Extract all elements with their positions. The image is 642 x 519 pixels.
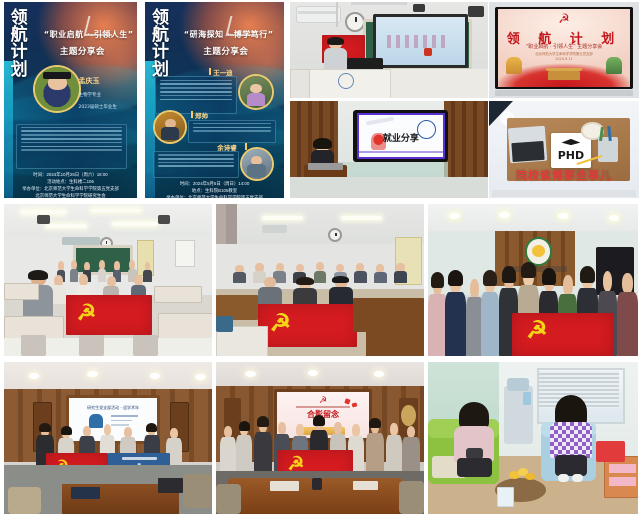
chair (79, 335, 104, 356)
cardboard-box (604, 456, 638, 498)
university-emblem (338, 73, 354, 89)
chair (216, 316, 233, 331)
poster-name-marker (191, 111, 193, 118)
microphone (312, 478, 322, 490)
poster-speaker-role: 2023届硕士毕业生 (78, 104, 116, 110)
speaker-box (468, 6, 484, 18)
photo-hall-group-flag: ☭ (428, 204, 638, 356)
photo-meeting-room-two-flags: 研究生党支部活动 · 迎学术年 ☭ (4, 362, 212, 514)
poster-speaker-major: 生物学专业 (78, 92, 101, 98)
party-emblem-icon: ☭ (318, 396, 329, 403)
student (453, 408, 495, 478)
poster-speaker-bio (188, 120, 276, 144)
poster-research-sharing: 领航计划 “研海探知 · 博学笃行” 主题分享会 王一迪 郑帅 余诗睿 (145, 2, 284, 198)
ceiling-light (150, 373, 160, 379)
ceiling-light (29, 373, 39, 379)
chair (183, 474, 212, 507)
poster-speaker-bio (153, 151, 238, 178)
red-gift-box (596, 441, 625, 462)
party-flag: ☭ (258, 304, 358, 347)
slide-linghang-plan-opening: ☭ 领 航 计 划 “职业启航 · 引领人生” 主题分享会 北京师范大学生命科学… (489, 2, 639, 98)
speaker-box (158, 215, 170, 224)
poster-speaker-name: 王一迪 (213, 67, 233, 77)
party-flag: ☭ (66, 295, 151, 335)
air-conditioner (62, 237, 99, 245)
ceiling-light (308, 370, 318, 376)
poster-speaker-name: 孟庆玉 (78, 76, 99, 86)
laptop (308, 163, 344, 170)
poster-speaker-avatar (33, 65, 81, 113)
tiananmen-icon (548, 71, 580, 80)
wood-wall (444, 101, 488, 177)
party-flag: ☭ (512, 313, 613, 356)
poster-subtitle: 主题分享会 (60, 45, 105, 57)
ceiling-light (245, 371, 255, 377)
speaker-box (37, 215, 49, 224)
poster-speaker-avatar (240, 147, 274, 181)
hammer-sickle-icon: ☭ (526, 319, 548, 343)
laptop (158, 478, 183, 493)
ceiling-light (609, 215, 620, 221)
ceiling-light (499, 212, 510, 218)
document (270, 481, 299, 492)
poster-name-marker (209, 68, 211, 75)
hammer-sickle-icon: ☭ (77, 302, 97, 324)
ceiling-light (558, 213, 569, 219)
slide-subtitle: “职业启航 · 引领人生” 主题分享会 (498, 43, 631, 50)
poster-speaker-bio (155, 76, 238, 113)
poster-speaker-avatar (238, 74, 274, 110)
slide-organizer: 北京师范大学生命科学学院第五党支部 (498, 51, 631, 56)
hammer-sickle-icon: ☭ (270, 312, 292, 336)
photo-lecture-hall-speaker (290, 2, 488, 98)
poster-program-title: 领航计划 (152, 10, 180, 79)
document (353, 481, 378, 490)
chair (399, 481, 424, 514)
poster-slogan: “研海探知 · 博学笃行” (184, 29, 274, 40)
poster-slogan: “职业启航 · 引领人生” (44, 29, 134, 40)
presentation-screen: 就业分享 (353, 110, 448, 162)
slide-phd-topic: PHD 院校读博那些事儿 (489, 101, 639, 198)
document (71, 487, 100, 499)
slide-title: 院校读博那些事儿 (489, 167, 639, 183)
poster-footer: 时间：2024年10月25日（周六）18:00 活动地点：生科楼二106 举办单… (4, 171, 137, 198)
photo-meeting-room-group-photo: ☭ 合影留念 (216, 362, 424, 514)
ceiling-light (449, 213, 460, 219)
speaker-box (413, 4, 425, 12)
poster-program-title: 领航计划 (11, 10, 38, 79)
milk-carton (497, 487, 514, 507)
photo-counseling-room-talk (428, 362, 638, 514)
chair (216, 484, 241, 514)
player-toolbar[interactable] (492, 190, 636, 197)
chair (8, 487, 41, 514)
party-emblem-icon: ☭ (556, 12, 572, 24)
sunflower-bouquet (508, 465, 537, 486)
photo-classroom-group-flag-2: ☭ (216, 204, 424, 356)
slide-date: 2024.9.11 (498, 57, 631, 61)
chair (21, 335, 46, 356)
counselor (550, 402, 592, 481)
presenter (322, 38, 350, 69)
poster-speaker-name: 郑帅 (195, 110, 208, 120)
graduation-cap-icon (561, 139, 580, 145)
ceiling-light (87, 371, 97, 377)
poster-speaker-avatar (153, 110, 187, 144)
poster-career-navigation: 领航计划 “职业启航 · 引领人生” 主题分享会 孟庆玉 生物学专业 2023届… (4, 2, 137, 198)
poster-footer: 时间：2024年5月5日（周日）14:00 地点：生科院B105教室 举办单位：… (145, 180, 284, 198)
chair (133, 335, 158, 356)
projection-screen (373, 14, 468, 68)
poster-description-block (16, 124, 127, 169)
poster-subtitle: 主题分享会 (203, 45, 248, 57)
photo-collage: 领航计划 “职业启航 · 引领人生” 主题分享会 孟庆玉 生物学专业 2023届… (0, 0, 642, 519)
photo-classroom-group-flag-1: ☭ (4, 204, 212, 356)
notice-board (175, 240, 196, 266)
player-toolbar[interactable] (495, 90, 633, 96)
water-dispenser (504, 386, 533, 444)
slide-background: ☭ 领 航 计 划 “职业启航 · 引领人生” 主题分享会 北京师范大学生命科学… (498, 9, 631, 87)
photo-employment-sharing-talk: 就业分享 (290, 101, 488, 198)
air-conditioner (262, 225, 287, 233)
